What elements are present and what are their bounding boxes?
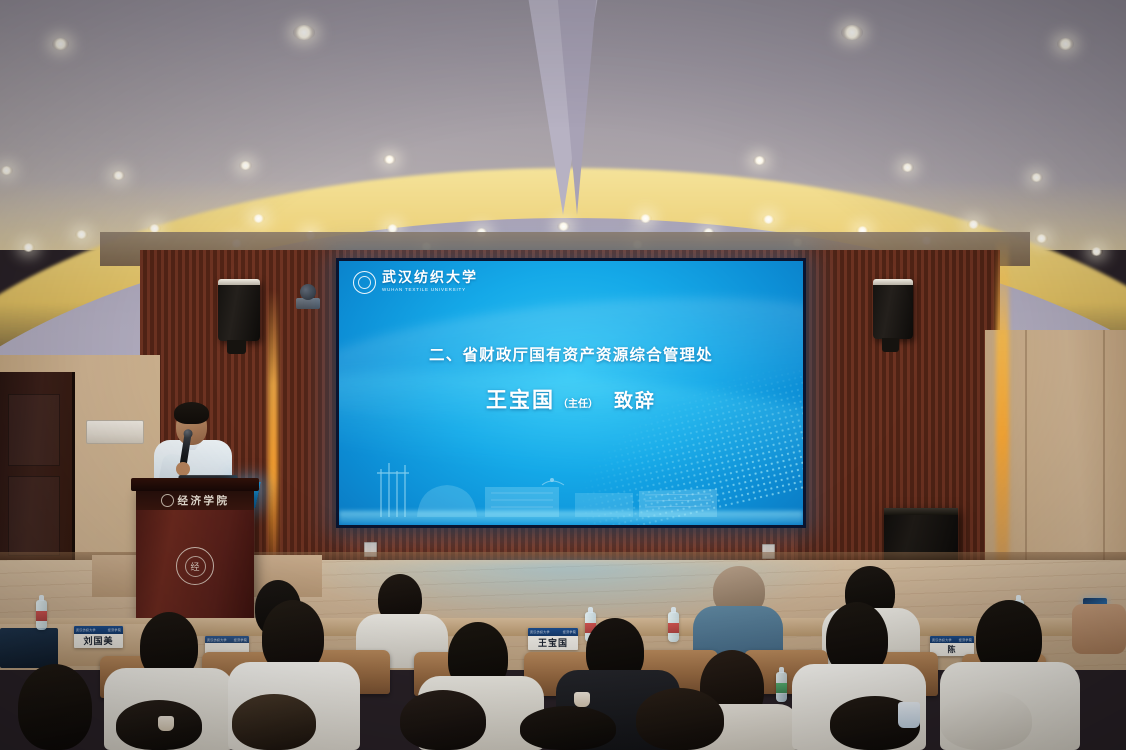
conference-hall-photo: 武汉纺织大学 WUHAN TEXTILE UNIVERSITY 二、省财政厅国有…	[0, 0, 1126, 750]
nameplate-header: 武汉纺织大学 经济学院	[205, 636, 249, 643]
presenter-hand	[176, 462, 190, 476]
presenter-hair	[174, 402, 209, 424]
ceiling-downlight	[1090, 247, 1103, 256]
paper-cup	[158, 716, 174, 731]
ceiling-downlight	[967, 220, 980, 229]
wall-air-vent	[86, 420, 144, 444]
university-logo: 武汉纺织大学 WUHAN TEXTILE UNIVERSITY	[353, 271, 478, 294]
wtu-emblem-icon	[353, 271, 376, 294]
ceiling-downlight	[75, 230, 88, 239]
water-bottle	[776, 672, 787, 702]
ceiling-downlight	[293, 25, 315, 40]
lectern-emblem-icon: 经	[176, 547, 214, 585]
ceiling-downlight	[557, 222, 570, 231]
ceiling-center-beam-shadow	[557, 0, 597, 215]
ceiling-downlight	[762, 215, 775, 224]
nameplate-header: 武汉纺织大学 经济学院	[528, 628, 578, 636]
school-emblem-icon	[161, 494, 174, 507]
speaker-top-trim	[873, 279, 913, 285]
slide-speaker-role: （主任）	[558, 395, 598, 410]
lectern: 经济学院 经	[136, 487, 254, 620]
speaker-bracket	[227, 340, 245, 354]
slide-action-word: 致辞	[614, 386, 656, 413]
audience-head	[940, 690, 1032, 750]
speaker-top-trim	[218, 279, 260, 285]
ceiling-downlight	[753, 156, 766, 165]
ceiling-downlight	[239, 161, 252, 170]
lectern-top-surface	[131, 478, 259, 491]
slide-surface: 武汉纺织大学 WUHAN TEXTILE UNIVERSITY 二、省财政厅国有…	[339, 261, 803, 525]
audience-head	[18, 664, 92, 750]
university-name-cn: 武汉纺织大学	[382, 272, 478, 287]
ceiling-downlight	[22, 243, 35, 252]
speaker-bracket	[882, 338, 900, 352]
wall-speaker-left	[218, 279, 260, 341]
lectern-emblem-char: 经	[185, 556, 206, 577]
slide-ground-glow	[339, 511, 803, 525]
photographer-hands	[1072, 604, 1126, 654]
nameplate-name: 王宝国	[528, 636, 578, 650]
audience-head	[232, 694, 316, 750]
door-panel	[8, 394, 60, 466]
audience-head	[520, 706, 616, 750]
wall-accent-light-right	[996, 238, 1009, 568]
nameplate-header-right: 经济学院	[563, 630, 576, 634]
nameplate-name: 刘国美	[74, 634, 123, 648]
slide-subheading: 王宝国 （主任） 致辞	[339, 384, 803, 414]
nameplate-header-left: 武汉纺织大学	[76, 628, 96, 632]
nameplate-header-left: 武汉纺织大学	[207, 638, 227, 642]
ceiling-downlight	[639, 214, 652, 223]
wall-accent-light-left	[268, 290, 278, 560]
nameplate-header-right: 经济学院	[108, 628, 121, 632]
audience-head	[636, 688, 724, 750]
ceiling-downlight	[112, 171, 125, 180]
nameplate: 武汉纺织大学 经济学院 王宝国	[528, 628, 578, 650]
nameplate-header-left: 武汉纺织大学	[530, 630, 550, 634]
ceiling-downlight	[1030, 173, 1043, 182]
lectern-nameband: 经济学院	[136, 491, 254, 510]
slide-heading: 二、省财政厅国有资产资源综合管理处	[339, 343, 803, 365]
nameplate-header-right: 经济学院	[234, 638, 247, 642]
nameplate-header-left: 武汉纺织大学	[932, 638, 952, 642]
projection-screen: 武汉纺织大学 WUHAN TEXTILE UNIVERSITY 二、省财政厅国有…	[336, 258, 806, 528]
bottle-label	[776, 683, 787, 693]
audience-head	[400, 690, 486, 750]
nameplate-header: 武汉纺织大学 经济学院	[930, 636, 974, 643]
water-bottle	[36, 600, 47, 630]
nameplate: 武汉纺织大学 经济学院 陈	[930, 636, 974, 656]
ceiling-downlight	[52, 38, 69, 50]
slide-text-block: 二、省财政厅国有资产资源综合管理处 王宝国 （主任） 致辞	[339, 343, 803, 414]
ceiling-downlight	[252, 214, 265, 223]
paper-cup	[574, 692, 590, 707]
ceiling-downlight	[1035, 234, 1048, 243]
tissue-box	[898, 702, 920, 728]
desk-monitor	[0, 628, 58, 668]
ceiling-downlight	[0, 166, 13, 175]
lectern-school-label: 经济学院	[178, 493, 230, 508]
water-bottle	[668, 612, 679, 642]
wall-speaker-right	[873, 279, 913, 339]
nameplate: 武汉纺织大学 经济学院 刘国美	[74, 626, 123, 648]
ceiling-downlight	[901, 163, 914, 172]
university-name-en: WUHAN TEXTILE UNIVERSITY	[382, 288, 478, 293]
ceiling-camera-icon	[300, 284, 316, 300]
slide-cityscape-decor	[339, 443, 803, 521]
slide-speaker-name: 王宝国	[486, 384, 555, 414]
ceiling-downlight	[383, 155, 396, 164]
bottle-label	[668, 623, 679, 633]
nameplate-header: 武汉纺织大学 经济学院	[74, 626, 123, 634]
ceiling-downlight	[841, 25, 863, 40]
door-panel	[8, 476, 60, 556]
bottle-label	[36, 611, 47, 621]
nameplate-header-right: 经济学院	[959, 638, 972, 642]
ceiling-downlight	[1057, 38, 1074, 50]
